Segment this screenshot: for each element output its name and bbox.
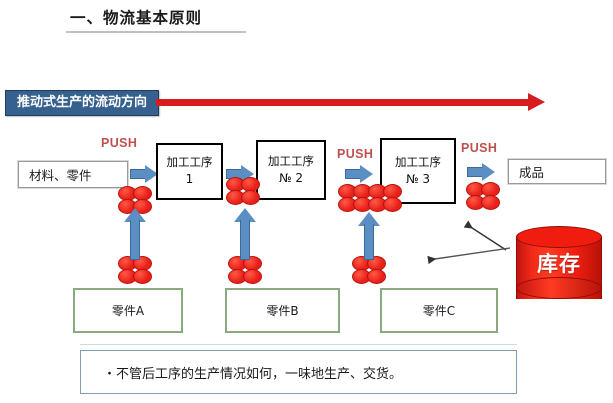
flow-direction-arrow-head-icon xyxy=(528,93,545,111)
process-box-3-line1: 加工工序 xyxy=(395,154,441,171)
note-box: ・不管后工序的生产情况如何，一味地生产、交货。 xyxy=(80,350,517,394)
process-box-1-line2: 1 xyxy=(186,171,194,188)
inventory-cylinder: 库存 xyxy=(516,226,602,310)
flow-direction-arrow-shaft xyxy=(156,99,530,106)
inventory-pointer-arrows-icon xyxy=(420,218,530,298)
part-box-b-label: 零件B xyxy=(266,302,298,319)
process-box-2: 加工工序 № 2 xyxy=(256,140,326,200)
inventory-cylinder-label: 库存 xyxy=(516,248,602,278)
feed-arrow-icon-b xyxy=(234,208,256,260)
title-underline xyxy=(66,31,246,33)
part-box-c-label: 零件C xyxy=(423,302,455,319)
process-box-2-line1: 加工工序 xyxy=(268,153,314,170)
note-text: ・不管后工序的生产情况如何，一味地生产、交货。 xyxy=(103,363,402,382)
inventory-cluster-part-c xyxy=(352,256,386,286)
flow-direction-banner: 推动式生产的流动方向 xyxy=(5,90,159,116)
process-box-3-line2: № 3 xyxy=(406,171,430,188)
inventory-cluster-after-process1 xyxy=(226,177,260,207)
inventory-cluster-after-process2 xyxy=(338,184,402,214)
inventory-cluster-part-a xyxy=(118,256,152,286)
cylinder-top-ellipse xyxy=(516,226,602,248)
part-box-b: 零件B xyxy=(225,288,340,333)
feed-arrow-icon-c xyxy=(358,212,380,260)
part-box-a: 零件A xyxy=(73,288,183,333)
process-box-1: 加工工序 1 xyxy=(156,143,223,200)
push-label-2: PUSH xyxy=(337,147,373,161)
push-label-1: PUSH xyxy=(101,136,137,150)
material-parts-box: 材料、零件 xyxy=(18,161,128,188)
page-title: 一、物流基本原则 xyxy=(70,6,202,28)
push-arrow-icon-3 xyxy=(345,165,375,183)
push-label-3: PUSH xyxy=(461,141,497,155)
process-box-1-line1: 加工工序 xyxy=(167,154,213,171)
process-box-2-line2: № 2 xyxy=(279,170,303,187)
part-box-a-label: 零件A xyxy=(112,302,144,319)
slide-canvas: 一、物流基本原则 推动式生产的流动方向 材料、零件 PUSH PUSH PUSH… xyxy=(0,0,613,403)
feed-arrow-icon-a xyxy=(124,208,146,260)
finished-goods-box: 成品 xyxy=(508,159,606,184)
cylinder-bottom-ellipse xyxy=(516,277,602,299)
material-parts-label: 材料、零件 xyxy=(29,165,92,184)
finished-goods-label: 成品 xyxy=(519,162,544,181)
inventory-cluster-after-process3 xyxy=(466,182,500,212)
inventory-cluster-part-b xyxy=(228,256,262,286)
push-arrow-icon-4 xyxy=(467,163,497,181)
note-divider xyxy=(80,344,517,345)
